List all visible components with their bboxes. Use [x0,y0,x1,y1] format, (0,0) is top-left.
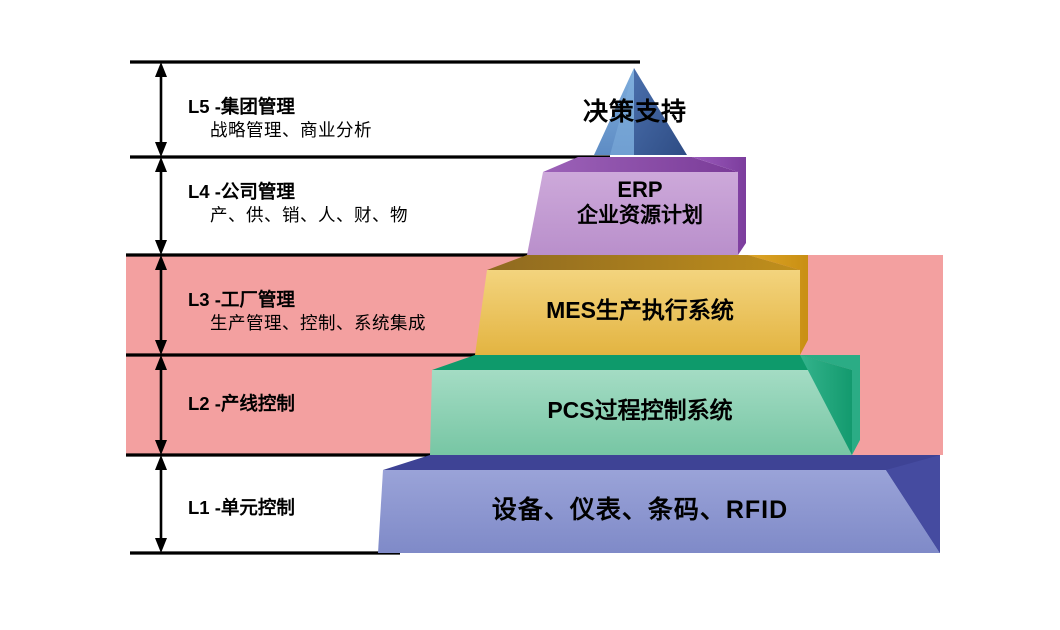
level-title-l3: L3 -工厂管理 [188,288,426,312]
level-title-l2: L2 -产线控制 [188,392,295,416]
tier-unit-top [383,455,940,470]
tier-mes-top [487,255,800,270]
tier-caption-line2: 企业资源计划 [525,203,755,228]
tier-caption-line1: PCS过程控制系统 [490,397,790,425]
tier-caption-pcs: PCS过程控制系统 [490,397,790,425]
pyramid-diagram: L5 -集团管理 战略管理、商业分析 L4 -公司管理 产、供、销、人、财、物 … [0,0,1060,630]
level-title-l4: L4 -公司管理 [188,180,408,204]
level-label-l2: L2 -产线控制 [188,392,295,416]
level-label-l4: L4 -公司管理 产、供、销、人、财、物 [188,180,408,226]
tier-caption-erp: ERP 企业资源计划 [525,177,755,229]
level-label-l5: L5 -集团管理 战略管理、商业分析 [188,95,372,141]
arrow-l5 [155,62,167,157]
level-subtitle-l5: 战略管理、商业分析 [188,119,372,141]
tier-pcs-top [432,355,852,370]
arrow-l1 [155,455,167,553]
tier-caption-mes: MES生产执行系统 [500,297,780,325]
arrow-l4 [155,157,167,255]
tier-caption-line1: 设备、仪表、条码、RFID [450,495,830,525]
tier-caption-unit-control: 设备、仪表、条码、RFID [450,495,830,525]
level-label-l1: L1 -单元控制 [188,496,295,520]
level-title-l5: L5 -集团管理 [188,95,372,119]
tier-caption-line1: MES生产执行系统 [500,297,780,325]
level-subtitle-l4: 产、供、销、人、财、物 [188,204,408,226]
level-label-l3: L3 -工厂管理 生产管理、控制、系统集成 [188,288,426,334]
tier-caption-line1: ERP [525,177,755,203]
level-title-l1: L1 -单元控制 [188,496,295,520]
tier-caption-line1: 决策支持 [520,97,750,127]
tier-caption-decision-support: 决策支持 [520,97,750,127]
level-subtitle-l3: 生产管理、控制、系统集成 [188,312,426,334]
